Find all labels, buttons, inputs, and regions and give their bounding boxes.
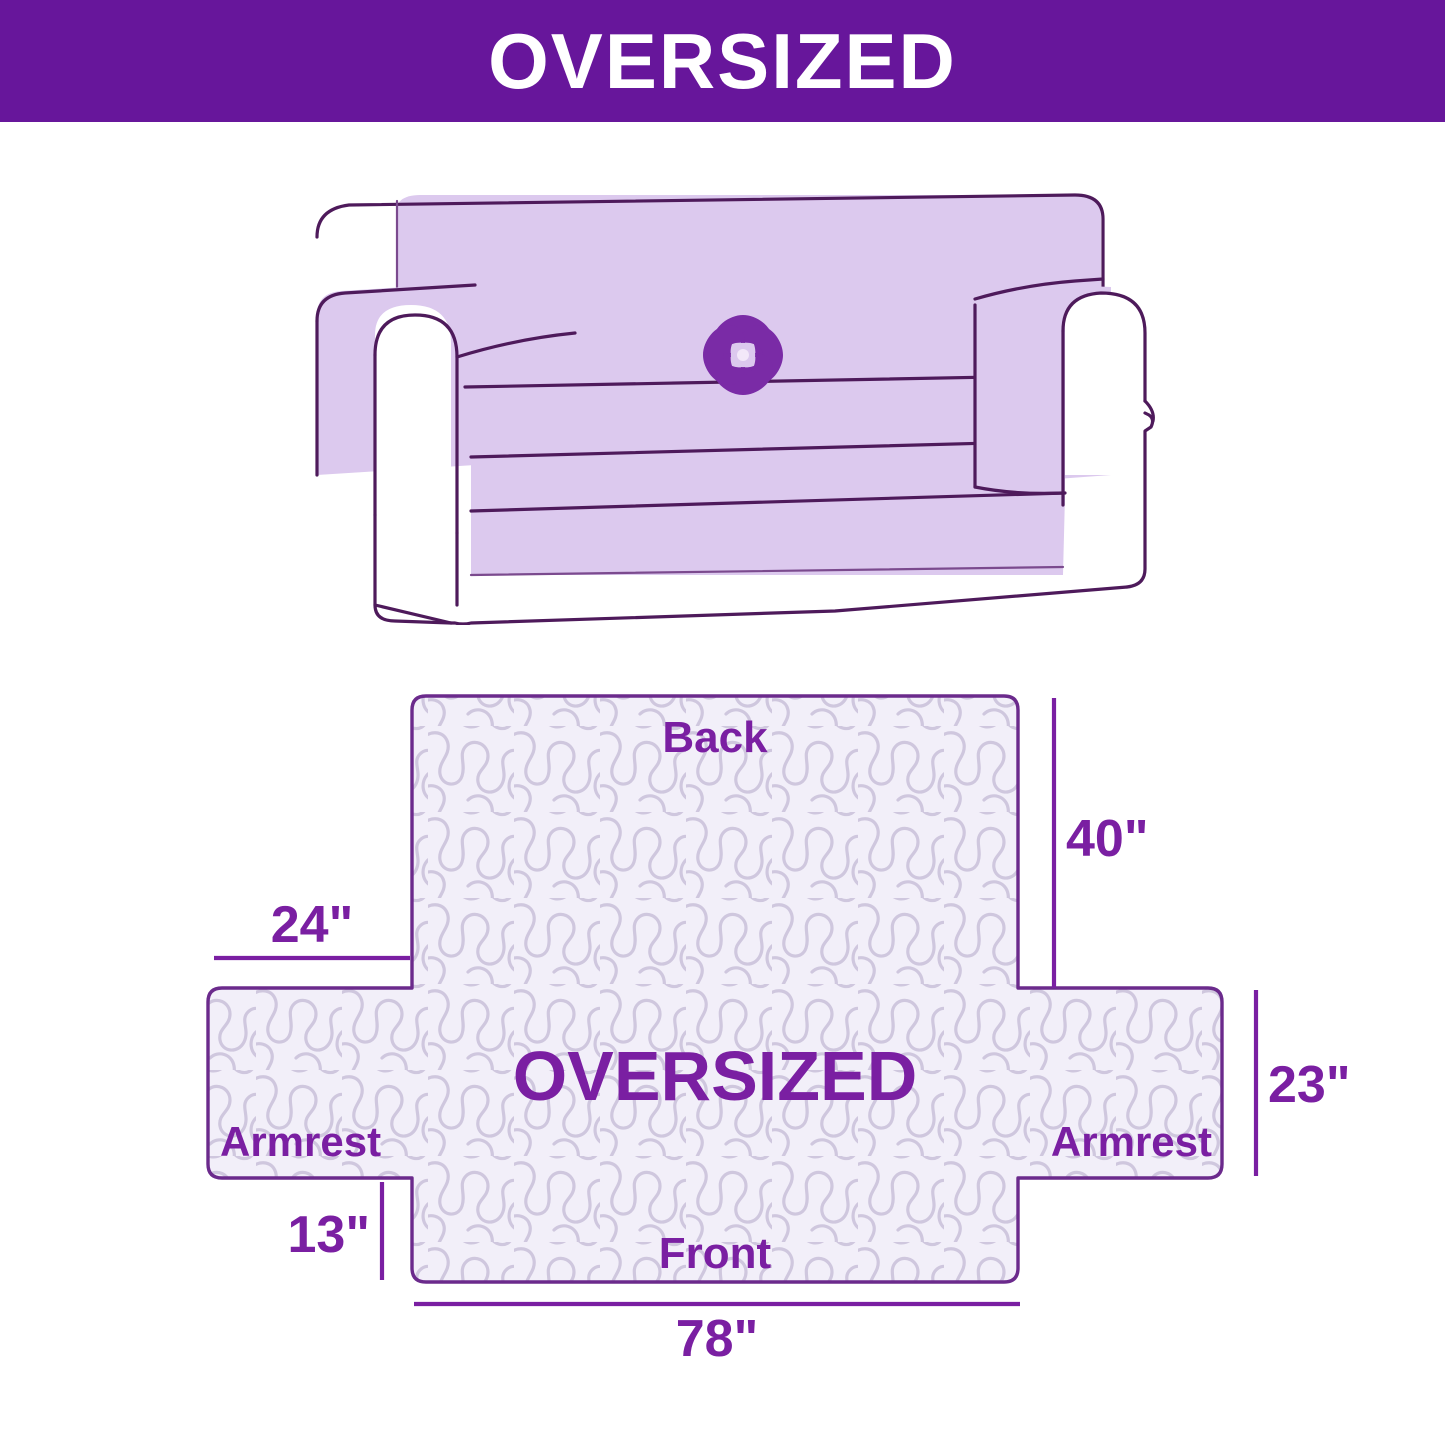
banner-title: OVERSIZED bbox=[488, 22, 957, 100]
label-back: Back bbox=[662, 713, 768, 762]
label-armrest-right: Armrest bbox=[1051, 1118, 1212, 1165]
dimension-label-40: 40" bbox=[1066, 810, 1149, 868]
sofa-illustration: .ol{fill:none;stroke:#4E1A5B;stroke-widt… bbox=[275, 175, 1195, 625]
dimension-diagram: .cut{fill:url(#quilt);stroke:#6B2A8C;str… bbox=[170, 640, 1350, 1360]
dimension-label-24: 24" bbox=[271, 896, 354, 954]
header-banner: OVERSIZED bbox=[0, 0, 1445, 122]
dimension-label-13: 13" bbox=[288, 1206, 371, 1264]
label-front: Front bbox=[659, 1229, 772, 1278]
cover-cut-outline bbox=[208, 696, 1222, 1282]
diagram-center-label: OVERSIZED bbox=[513, 1037, 918, 1115]
infographic-root: OVERSIZED .ol{fill:none;stroke:#4E1A5B;s… bbox=[0, 0, 1445, 1445]
dimension-label-78: 78" bbox=[676, 1310, 759, 1360]
label-armrest-left: Armrest bbox=[220, 1118, 381, 1165]
dimension-label-23: 23" bbox=[1268, 1056, 1350, 1114]
